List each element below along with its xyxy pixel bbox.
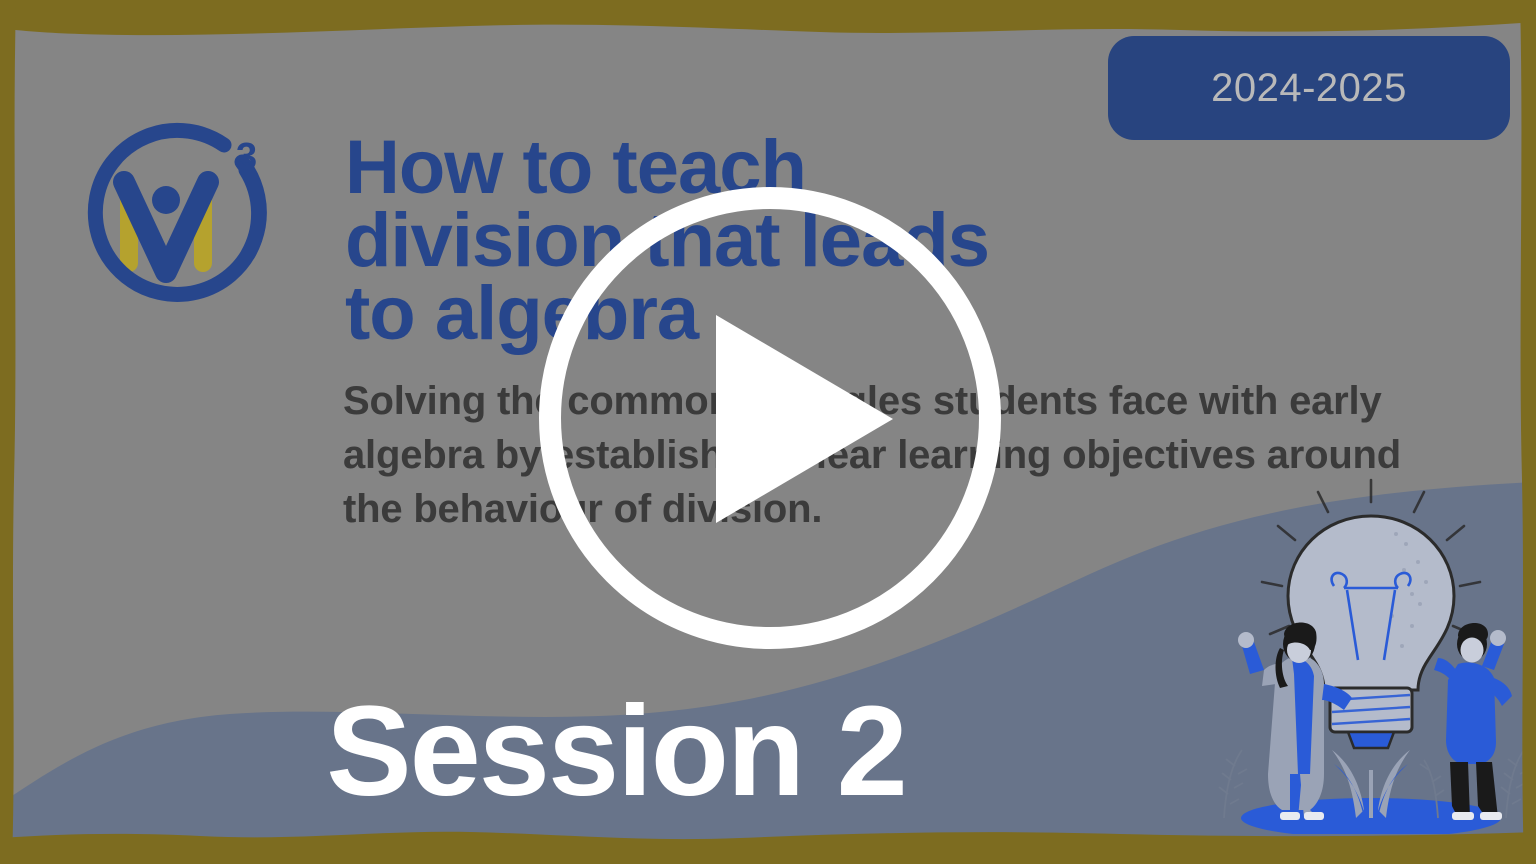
m3-logo-icon: 3 (72, 122, 284, 342)
year-badge-label: 2024-2025 (1211, 66, 1407, 111)
svg-text:3: 3 (236, 136, 257, 178)
play-triangle-icon[interactable] (716, 315, 893, 523)
play-button[interactable] (533, 181, 1007, 655)
video-player-stage: 3 2024-2025 How to teach division that l… (0, 0, 1536, 864)
year-badge: 2024-2025 (1108, 36, 1510, 140)
session-label: Session 2 (0, 688, 1384, 816)
person-right-illustration (1434, 623, 1512, 820)
